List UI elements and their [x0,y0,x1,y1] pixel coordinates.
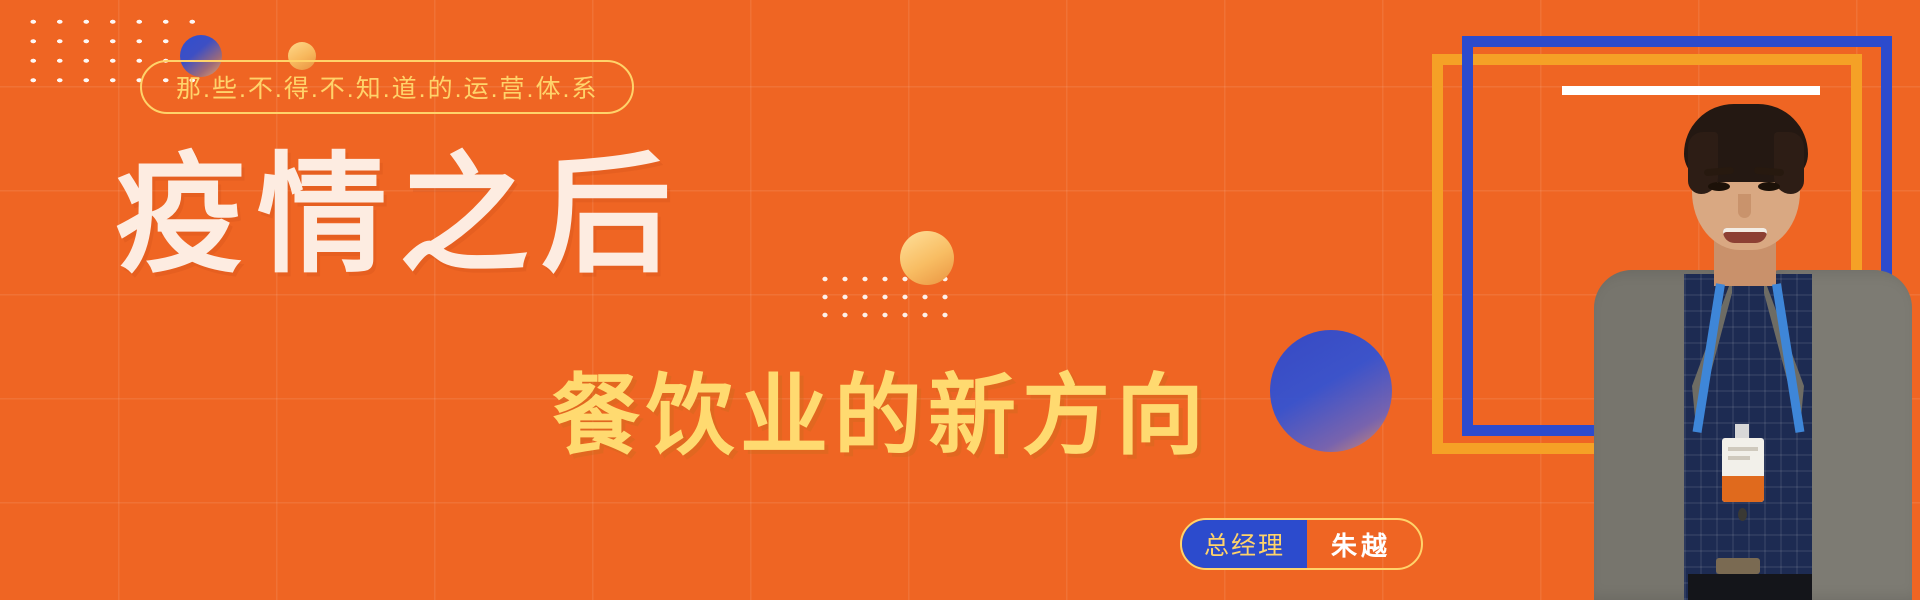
sphere-icon-blue-large [1270,330,1392,452]
speaker-badge: 总经理 朱越 [1180,518,1423,570]
avatar-eye-left [1708,182,1730,191]
page-title-line-1: 疫情之后 [115,150,683,280]
speaker-role-label: 总经理 [1182,520,1307,568]
avatar-nose [1738,194,1751,218]
speaker-photo-block [1420,24,1920,600]
avatar-mouth [1723,228,1767,243]
banner-stage: 那.些.不.得.不.知.道.的.运.营.体.系 疫情之后 餐饮业的新方向 总经理… [0,0,1920,600]
subtitle-pill: 那.些.不.得.不.知.道.的.运.营.体.系 [140,60,634,114]
sphere-icon-gold-medium [900,231,954,285]
avatar-trousers [1688,574,1812,600]
avatar-id-badge [1722,438,1764,502]
avatar-id-badge-footer [1722,476,1764,502]
avatar-belt [1716,558,1760,574]
avatar-id-badge-line-2 [1728,456,1750,460]
avatar-id-badge-line-1 [1728,447,1758,451]
speaker-name-label: 朱越 [1307,520,1421,568]
avatar-eye-right [1758,182,1780,191]
avatar [1588,88,1918,600]
page-title-line-2: 餐饮业的新方向 [552,372,1210,460]
avatar-jacket-button [1738,508,1747,521]
